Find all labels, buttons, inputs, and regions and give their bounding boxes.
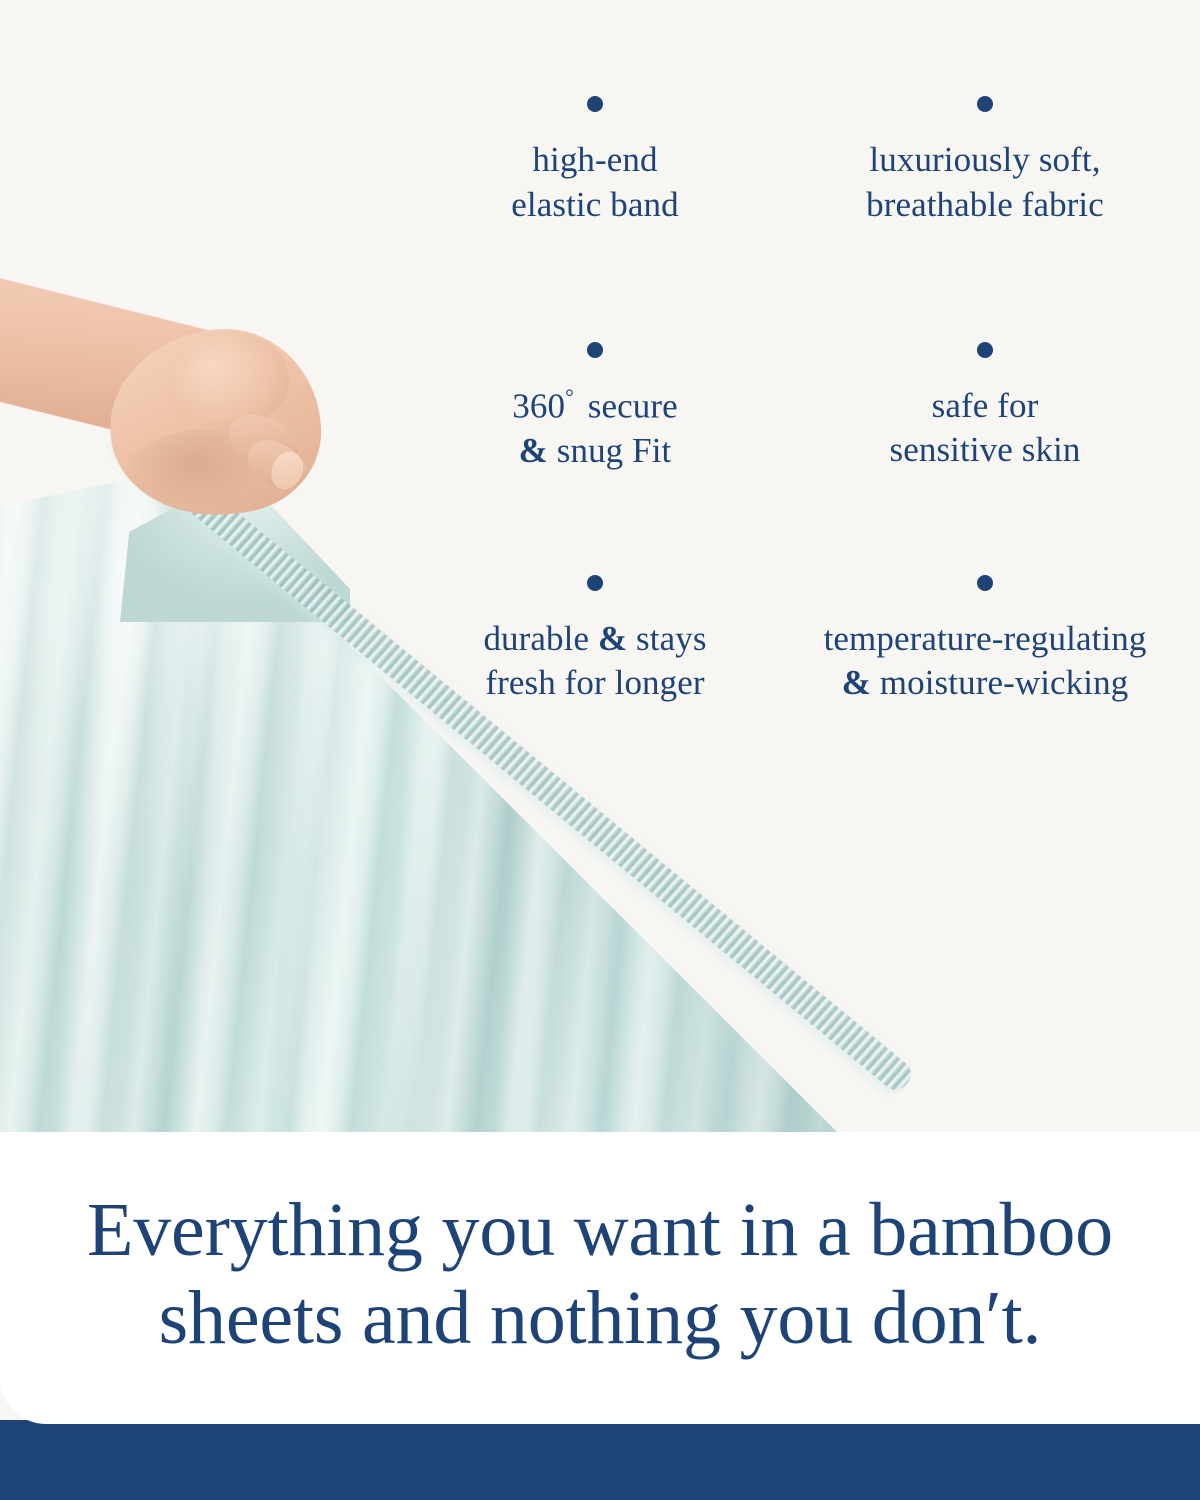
feature-sensitive-skin: safe for sensitive skin xyxy=(790,342,1180,474)
row-spacer xyxy=(400,228,1180,342)
feature-line-rest: snug Fit xyxy=(548,431,671,470)
feature-line-rest: moisture-wicking xyxy=(871,663,1128,702)
footer-bar xyxy=(0,1420,1200,1500)
feature-line-pre: durable xyxy=(483,619,598,658)
feature-line: sensitive skin xyxy=(796,428,1174,473)
row-spacer xyxy=(400,474,1180,575)
feature-line: & moisture-wicking xyxy=(796,661,1174,706)
feature-line: elastic band xyxy=(406,183,784,228)
feature-row-2: 360°secure & snug Fit safe for sensitive… xyxy=(400,342,1180,474)
feature-line: fresh for longer xyxy=(406,661,784,706)
feature-temperature-regulating-text: temperature-regulating & moisture-wickin… xyxy=(796,617,1174,707)
headline-line-1: Everything you want in a bamboo xyxy=(18,1186,1182,1274)
bullet-dot-icon xyxy=(977,575,993,591)
bullet-dot-icon xyxy=(587,575,603,591)
feature-secure-snug-fit: 360°secure & snug Fit xyxy=(400,342,790,474)
feature-elastic-band: high-end elastic band xyxy=(400,96,790,228)
feature-durable-fresh-text: durable & stays fresh for longer xyxy=(406,617,784,707)
feature-line-rest: stays xyxy=(627,619,706,658)
product-feature-image: high-end elastic band luxuriously soft, … xyxy=(0,0,1200,1500)
feature-line: high-end xyxy=(406,138,784,183)
bullet-dot-icon xyxy=(587,96,603,112)
headline-line-2: sheets and nothing you don′t. xyxy=(18,1274,1182,1362)
feature-temperature-regulating: temperature-regulating & moisture-wickin… xyxy=(790,575,1180,707)
feature-secure-snug-fit-text: 360°secure & snug Fit xyxy=(406,384,784,474)
feature-line: temperature-regulating xyxy=(796,617,1174,662)
feature-breathable-fabric-text: luxuriously soft, breathable fabric xyxy=(796,138,1174,228)
degree-value: 360 xyxy=(512,386,565,425)
feature-line-rest: secure xyxy=(588,386,678,425)
feature-durable-fresh: durable & stays fresh for longer xyxy=(400,575,790,707)
headline: Everything you want in a bamboo sheets a… xyxy=(0,1186,1200,1362)
feature-line: safe for xyxy=(796,384,1174,429)
feature-sensitive-skin-text: safe for sensitive skin xyxy=(796,384,1174,474)
degree-symbol-icon: ° xyxy=(565,385,588,409)
ampersand: & xyxy=(519,431,548,470)
bullet-dot-icon xyxy=(977,342,993,358)
feature-line: durable & stays xyxy=(406,617,784,662)
bullet-dot-icon xyxy=(587,342,603,358)
feature-list: high-end elastic band luxuriously soft, … xyxy=(400,96,1180,706)
feature-line: luxuriously soft, xyxy=(796,138,1174,183)
feature-row-1: high-end elastic band luxuriously soft, … xyxy=(400,96,1180,228)
feature-line: breathable fabric xyxy=(796,183,1174,228)
ampersand: & xyxy=(842,663,871,702)
ampersand: & xyxy=(598,619,627,658)
feature-line: & snug Fit xyxy=(406,429,784,474)
bullet-dot-icon xyxy=(977,96,993,112)
feature-row-3: durable & stays fresh for longer tempera… xyxy=(400,575,1180,707)
headline-card: Everything you want in a bamboo sheets a… xyxy=(0,1132,1200,1424)
feature-line: 360°secure xyxy=(406,384,784,429)
feature-elastic-band-text: high-end elastic band xyxy=(406,138,784,228)
feature-breathable-fabric: luxuriously soft, breathable fabric xyxy=(790,96,1180,228)
